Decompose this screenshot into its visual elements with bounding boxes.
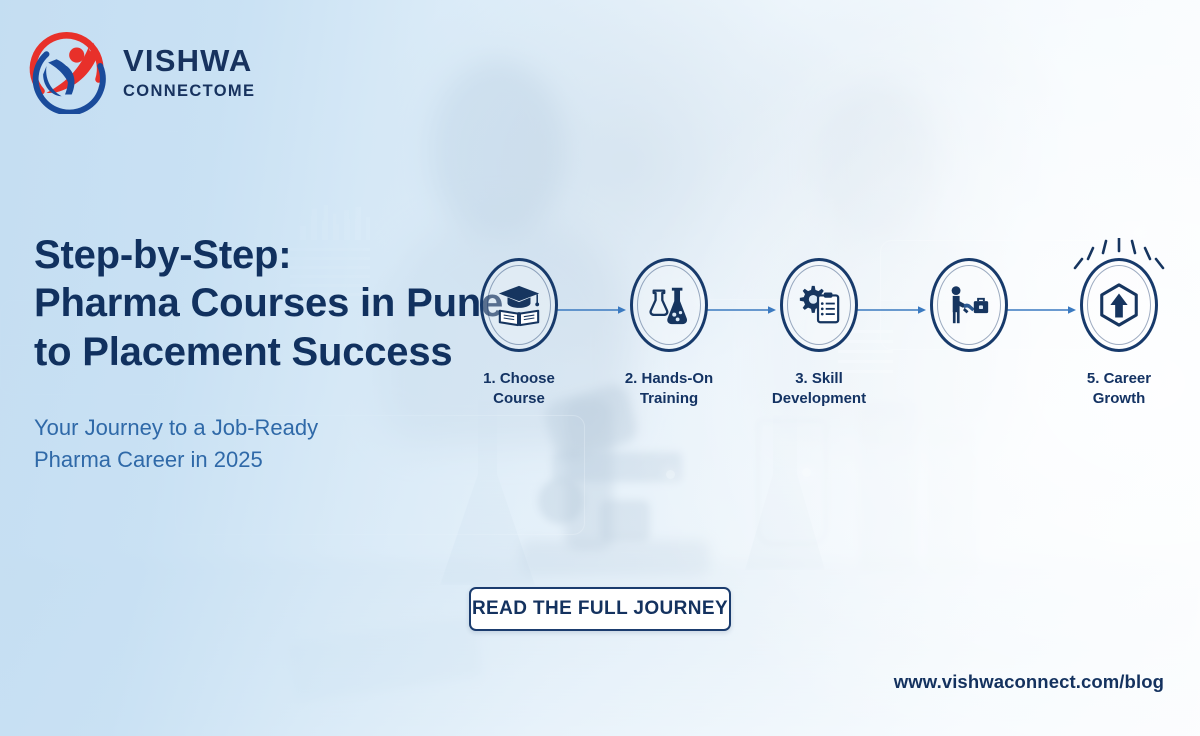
journey-step-2[interactable]: 2. Hands-On Training [610,258,728,410]
handshake-briefcase-icon [946,282,992,328]
journey-step-3[interactable]: 3. Skill Development [760,258,878,410]
step-5-badge [1080,258,1158,352]
brand-name-primary: VISHWA [123,45,255,76]
graduation-cap-book-icon [496,282,542,328]
step-5-label: 5. Career Growth [1060,369,1178,410]
brand-name-secondary: CONNECTOME [123,83,255,100]
step-1-label: 1. Choose Course [460,369,578,410]
flask-beaker-icon [646,282,692,328]
step-3-badge [780,258,858,352]
website-url[interactable]: www.vishwaconnect.com/blog [894,671,1164,693]
step-3-label: 3. Skill Development [772,369,866,410]
step-2-badge [630,258,708,352]
step-2-label: 2. Hands-On Training [625,369,713,410]
hexagon-up-arrow-icon [1096,282,1142,328]
journey-step-5[interactable]: 5. Career Growth [1060,258,1178,410]
page-title: Step-by-Step: Pharma Courses in Pune to … [34,231,503,376]
vishwa-connectome-logo-icon [28,28,112,114]
step-1-badge [480,258,558,352]
gear-clipboard-icon [796,282,842,328]
journey-step-1[interactable]: 1. Choose Course [460,258,578,410]
promo-banner: VISHWA CONNECTOME Step-by-Step: Pharma C… [0,0,1200,736]
brand-logo[interactable]: VISHWA CONNECTOME [28,28,255,114]
page-subtitle: Your Journey to a Job-Ready Pharma Caree… [34,412,318,476]
journey-step-4[interactable] [910,258,1028,369]
journey-steps: 1. Choose Course 2. Hands-On Training [468,258,1188,418]
read-full-journey-button[interactable]: READ THE FULL JOURNEY [469,587,731,631]
step-4-badge [930,258,1008,352]
